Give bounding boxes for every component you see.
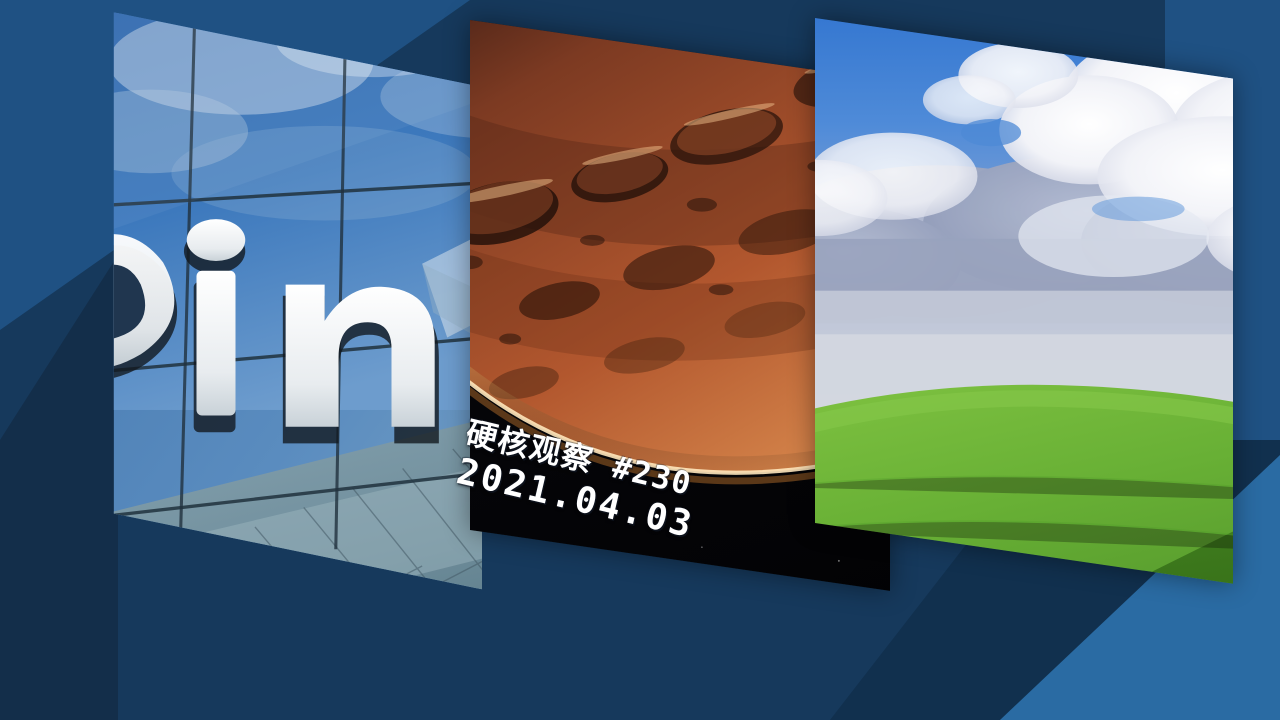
coinbase-building-art xyxy=(112,12,482,589)
slide-canvas: 硬核观察 #230 2021.04.03 xyxy=(0,0,1280,720)
bliss-wallpaper-art xyxy=(815,18,1233,584)
panel-windows-xp-bliss[interactable] xyxy=(815,18,1233,584)
panel-coinbase-building[interactable] xyxy=(112,12,482,589)
